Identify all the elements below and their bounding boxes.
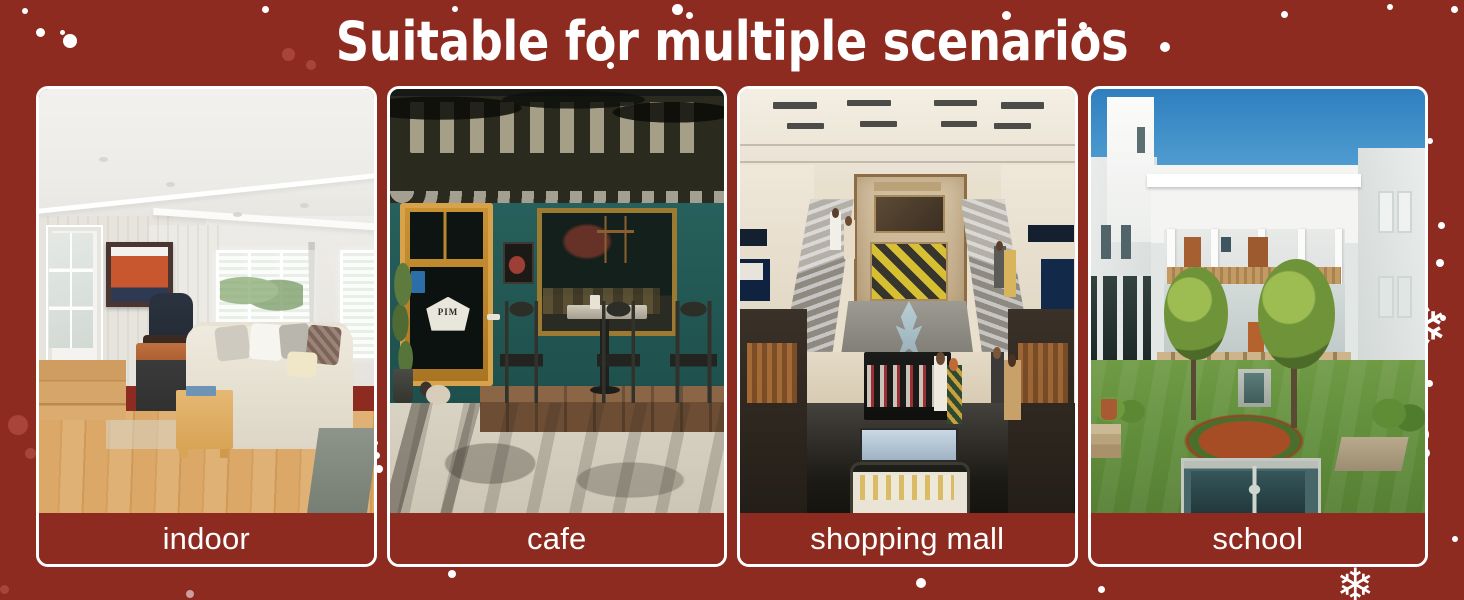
decor-dot (60, 30, 65, 35)
decor-dot (1098, 586, 1105, 593)
decor-dot (186, 590, 194, 598)
card-caption-shopping-mall: shopping mall (740, 513, 1075, 564)
card-caption-indoor: indoor (39, 513, 374, 564)
decor-dot (448, 570, 456, 578)
decor-dot (0, 585, 9, 594)
scenario-card-shopping-mall[interactable]: shopping mall (737, 86, 1078, 567)
decor-dot (8, 415, 28, 435)
decor-dot (1452, 536, 1458, 542)
scenario-card-school[interactable]: school (1088, 86, 1429, 567)
decor-dot (1436, 259, 1444, 267)
decor-dot (22, 8, 28, 14)
card-caption-cafe: cafe (390, 513, 725, 564)
decor-dot (25, 448, 36, 459)
cafe-sign-text: PIM (426, 307, 469, 320)
shopping-mall-photo (740, 89, 1075, 513)
decor-dot (1438, 222, 1445, 229)
decor-dot (1387, 4, 1393, 10)
decor-dot (36, 28, 45, 37)
page-title: Suitable for multiple scenarios (102, 10, 1361, 73)
promo-banner: ❄ ❄ Suitable for multiple scenarios (0, 0, 1464, 600)
card-caption-school: school (1091, 513, 1426, 564)
cafe-photo: PIM (390, 89, 725, 513)
scenario-card-list: indoor PIM (36, 86, 1428, 567)
decor-dot (1440, 315, 1446, 321)
school-photo (1091, 89, 1426, 513)
scenario-card-indoor[interactable]: indoor (36, 86, 377, 567)
indoor-photo (39, 89, 374, 513)
decor-dot (916, 578, 926, 588)
snowflake-icon: ❄ (1336, 562, 1375, 600)
scenario-card-cafe[interactable]: PIM cafe (387, 86, 728, 567)
decor-dot (1451, 6, 1458, 13)
decor-dot (63, 34, 77, 48)
